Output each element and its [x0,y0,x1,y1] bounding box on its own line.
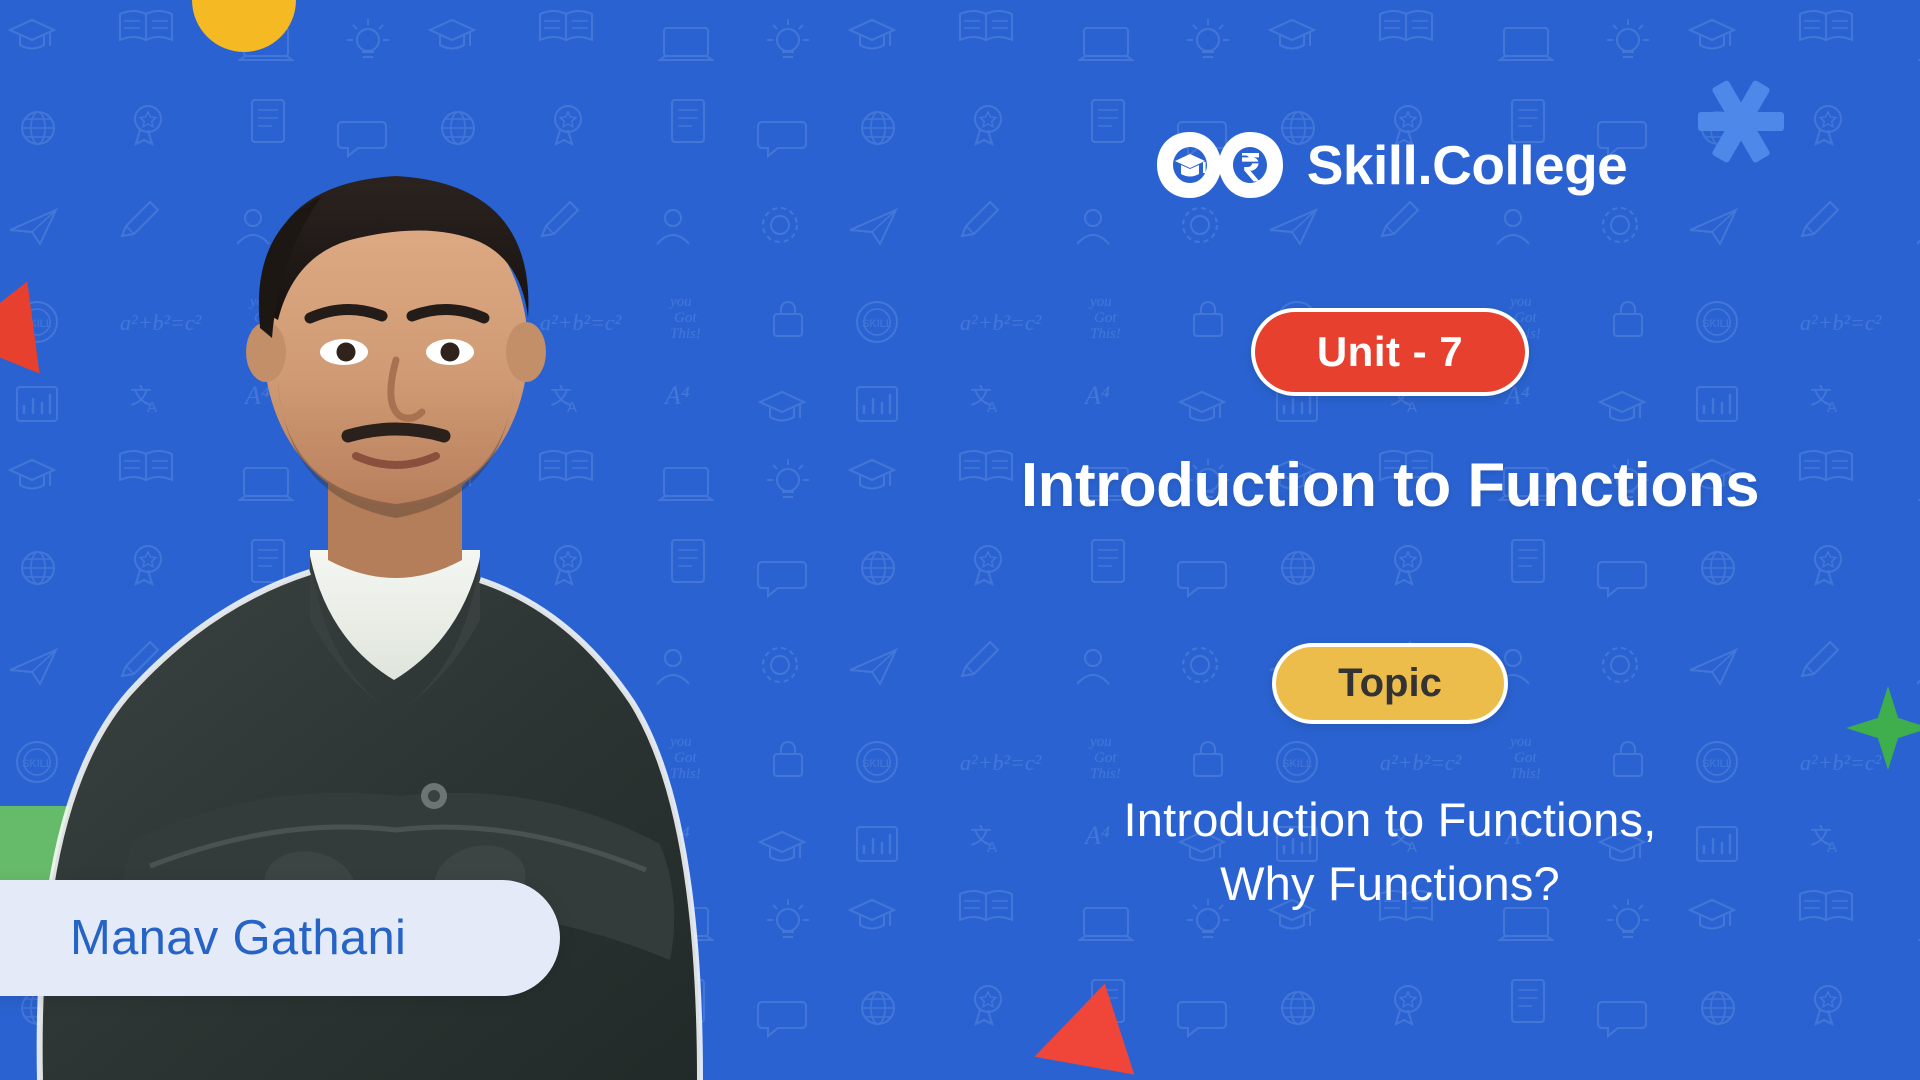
infinity-graduation-rupee-icon [1153,128,1287,202]
content-column: Skill.College Unit - 7 Introduction to F… [860,0,1920,1080]
topic-description-line-1: Introduction to Functions, [1124,788,1657,852]
unit-badge: Unit - 7 [1251,308,1529,396]
topic-badge: Topic [1272,643,1508,724]
slide-canvas: SKILL a²+b²=c² you Got This! [0,0,1920,1080]
topic-description: Introduction to Functions, Why Functions… [1124,788,1657,916]
presenter-name: Manav Gathani [70,910,406,966]
lesson-title: Introduction to Functions [1021,450,1759,521]
topic-description-line-2: Why Functions? [1124,852,1657,916]
brand-logo: Skill.College [1153,128,1628,202]
yellow-circle-decoration [192,0,296,52]
brand-wordmark: Skill.College [1307,133,1628,197]
presenter-nameplate: Manav Gathani [0,880,560,996]
